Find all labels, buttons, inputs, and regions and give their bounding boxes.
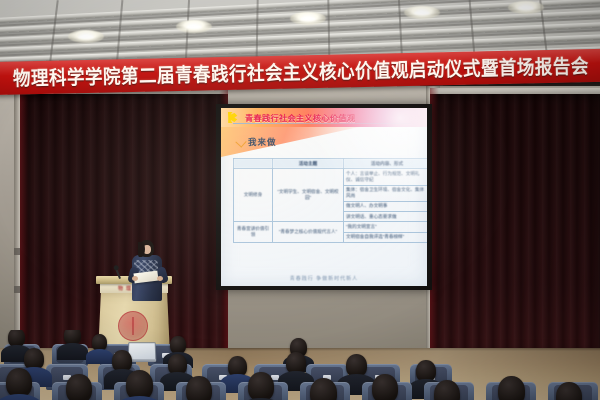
downlight-icon xyxy=(508,1,544,14)
audience-member xyxy=(556,382,582,400)
table-header-theme: 活动主题 xyxy=(273,159,344,169)
row-theme: “文明学生、文明宿舍、文明校园” xyxy=(273,169,344,222)
table-header-content: 活动内容、形式 xyxy=(344,159,428,169)
audience-member xyxy=(64,330,81,345)
audience-member xyxy=(346,354,367,377)
audience-member xyxy=(8,330,25,347)
table-row: 文明修身 “文明学生、文明宿舍、文明校园” 个人：言谈举止、行为规范、文明礼仪、… xyxy=(234,169,428,185)
speaker-person xyxy=(128,240,168,306)
slide-title: 青春践行社会主义核心价值观 xyxy=(245,112,355,124)
row-label: 文明修身 xyxy=(234,169,273,222)
row-label: 青春宣讲价值引领 xyxy=(234,222,273,242)
table-header-blank xyxy=(234,159,273,169)
presentation-slide: 青春践行社会主义核心价值观 我来做 活动主题 活动内容、形式 文明修身 “文明学… xyxy=(221,108,427,286)
audience-member xyxy=(126,370,153,400)
audience-member xyxy=(498,376,525,400)
audience-member xyxy=(66,374,92,400)
audience-member xyxy=(24,348,44,370)
slide-header: 青春践行社会主义核心价值观 xyxy=(221,108,427,127)
audience xyxy=(0,330,600,400)
audience-member xyxy=(434,380,460,400)
row-content-item: 集体：宿舍卫生环境、宿舍文化、集体风尚 xyxy=(344,185,428,201)
audience-member xyxy=(170,336,186,354)
table-header-row: 活动主题 活动内容、形式 xyxy=(234,159,428,169)
audience-member xyxy=(186,376,212,400)
audience-member xyxy=(228,356,247,377)
row-content-item: 做文明人、办文明事 xyxy=(344,201,428,211)
row-content-item: 文明宿舍自我评选“青春榜样” xyxy=(344,232,428,242)
downlight-icon xyxy=(68,30,104,43)
row-content-item: 个人：言谈举止、行为规范、文明礼仪、诚信守纪 xyxy=(344,169,428,185)
audience-member xyxy=(372,374,398,400)
stage-curtain-right xyxy=(430,88,600,350)
auditorium-photo: 青春践行社会主义核心价值观 我来做 活动主题 活动内容、形式 文明修身 “文明学… xyxy=(0,0,600,400)
slide-heading-rule xyxy=(233,123,411,124)
table-row: 青春宣讲价值引领 “青春梦之核心价值观代言人” “我的文明宣言” xyxy=(234,222,428,232)
downlight-icon xyxy=(290,12,326,25)
slide-table: 活动主题 活动内容、形式 文明修身 “文明学生、文明宿舍、文明校园” 个人：言谈… xyxy=(233,158,427,243)
audience-member xyxy=(168,354,187,375)
projection-screen: 青春践行社会主义核心价值观 我来做 活动主题 活动内容、形式 文明修身 “文明学… xyxy=(216,104,432,290)
audience-member xyxy=(112,350,132,372)
check-icon xyxy=(235,136,246,147)
slide-heading: 我来做 xyxy=(237,136,427,148)
downlight-icon xyxy=(404,6,440,19)
audience-member xyxy=(92,334,107,351)
slide-footer: 青春践行 争做新时代新人 xyxy=(221,275,427,282)
audience-member xyxy=(286,352,306,374)
row-content-item: “我的文明宣言” xyxy=(344,222,428,232)
audience-member xyxy=(248,372,274,400)
audience-member xyxy=(6,368,32,397)
slide-heading-label: 我来做 xyxy=(248,136,277,148)
audience-member xyxy=(310,378,337,400)
audience-member xyxy=(416,360,436,382)
row-content-item: 讲文明话、重心态要求做 xyxy=(344,212,428,222)
row-theme: “青春梦之核心价值观代言人” xyxy=(273,222,344,242)
downlight-icon xyxy=(176,20,212,33)
